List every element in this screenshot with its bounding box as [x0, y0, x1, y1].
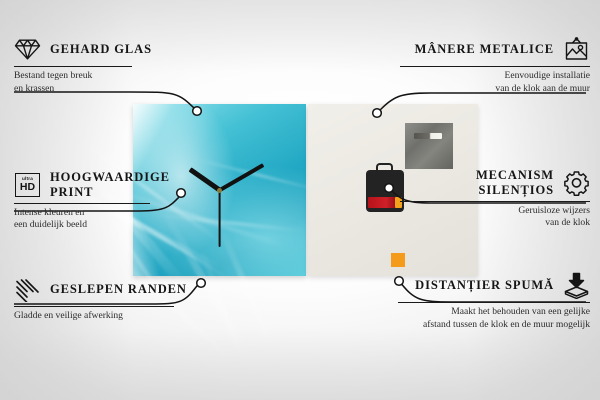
feature-description: Bestand tegen breuk en krassen [14, 70, 200, 96]
diamond-icon [14, 36, 41, 63]
feature-hoogwaardige-print: ultraHD HOOGWAARDIGE PRINT Intense kleur… [14, 170, 200, 232]
feature-mecanism-silentios: MECANISM SILENȚIOS Geruisloze wijzers va… [400, 168, 590, 230]
feature-title: GESLEPEN RANDEN [50, 282, 187, 297]
hanging-picture-icon [563, 36, 590, 63]
gear-icon [563, 169, 590, 196]
beveled-edges-icon [14, 276, 41, 303]
feature-divider [14, 66, 132, 67]
feature-gehard-glas: GEHARD GLAS Bestand tegen breuk en krass… [14, 36, 200, 96]
connector-dot-glas [193, 107, 202, 116]
feature-description: Gladde en veilige afwerking [14, 310, 200, 323]
feature-description: Intense kleuren en een duidelijk beeld [14, 207, 200, 233]
feature-divider [398, 302, 590, 303]
feature-description: Geruisloze wijzers van de klok [400, 205, 590, 231]
feature-divider [400, 66, 590, 67]
feature-distantier-spuma: DISTANȚIER SPUMĂ Maakt het behouden van … [398, 272, 590, 332]
feature-divider [14, 203, 150, 204]
feature-title: DISTANȚIER SPUMĂ [415, 278, 554, 293]
feature-title: MÂNERE METALICE [415, 42, 554, 57]
connector-dot-mecanism [385, 184, 394, 193]
feature-title: HOOGWAARDIGE PRINT [50, 170, 200, 200]
feature-divider [14, 306, 174, 307]
feature-divider [400, 201, 590, 202]
feature-description: Maakt het behouden van een gelijke afsta… [398, 306, 590, 332]
feature-description: Eenvoudige installatie van de klok aan d… [400, 70, 590, 96]
feature-geslepen-randen: GESLEPEN RANDEN Gladde en veilige afwerk… [14, 276, 200, 323]
feature-title: MECANISM SILENȚIOS [400, 168, 554, 198]
feature-title: GEHARD GLAS [50, 42, 152, 57]
connector-dot-manere [373, 109, 382, 118]
press-down-arrow-icon [563, 272, 590, 299]
feature-manere-metalice: MÂNERE METALICE Eenvoudige installatie v… [400, 36, 590, 96]
ultra-hd-icon: ultraHD [14, 171, 41, 198]
